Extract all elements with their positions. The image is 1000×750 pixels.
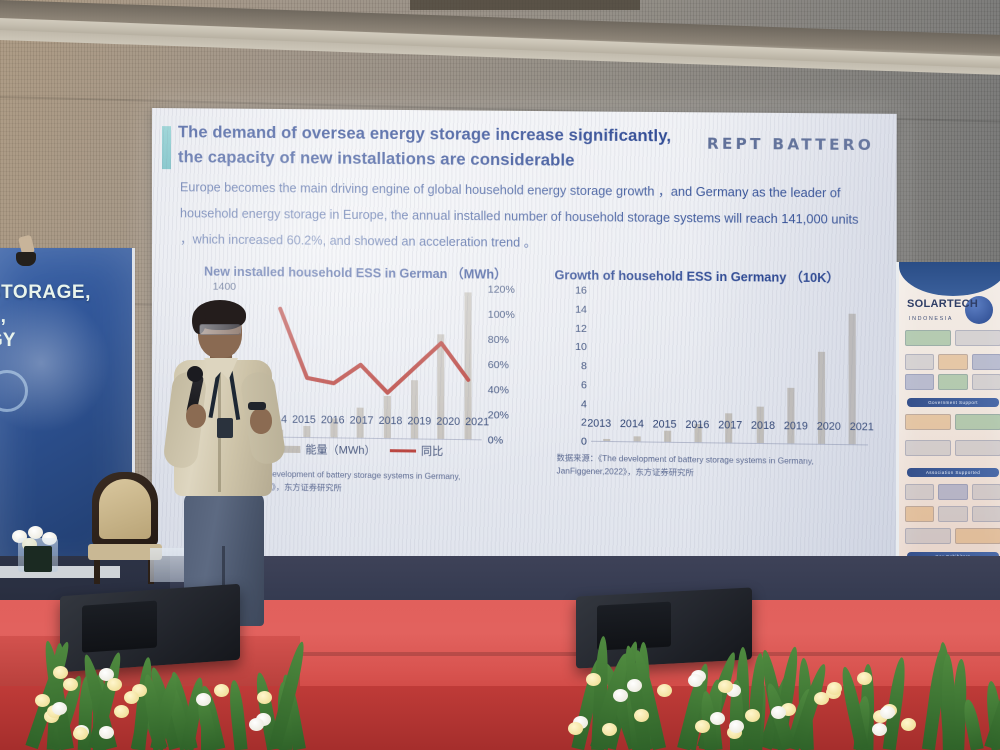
flower-bloom — [63, 678, 78, 691]
sponsor-logo-chip — [905, 354, 934, 370]
axis-tick-label: 2017 — [718, 419, 742, 435]
axis-tick-label: 2015 — [653, 418, 677, 434]
flower-bloom — [688, 674, 703, 687]
flower-bloom — [872, 723, 887, 736]
axis-tick-label: 100% — [488, 309, 515, 321]
lamp-base — [16, 252, 36, 266]
presenter-right-hand — [250, 408, 272, 434]
sponsor-row — [905, 330, 1000, 346]
presenter-glasses — [199, 324, 241, 335]
foreground-flowers-left — [30, 630, 290, 750]
flower-bloom — [99, 726, 114, 739]
flower-bloom — [73, 727, 88, 740]
axis-tick-label: 2018 — [751, 420, 775, 436]
axis-tick-label: 4 — [581, 398, 587, 410]
axis-tick-label: 2019 — [407, 415, 431, 431]
sponsor-row — [905, 414, 1000, 430]
banner-text-line-2: E, — [0, 306, 6, 328]
sponsor-logo-chip — [938, 374, 967, 390]
legend-label-yoy: 同比 — [421, 443, 443, 459]
conference-stage-scene: The demand of oversea energy storage inc… — [0, 0, 1000, 750]
axis-tick-label: 80% — [488, 334, 509, 346]
sponsor-logo-chip — [905, 484, 934, 500]
sponsor-logo-chip — [905, 440, 951, 456]
legend-label-energy: 能量（MWh） — [305, 441, 375, 458]
sponsor-logo-chip — [938, 506, 967, 522]
flower-leaf — [942, 654, 957, 750]
flower-bloom — [771, 706, 786, 719]
sponsor-logo-chip — [955, 330, 1000, 346]
axis-tick-label: 2019 — [784, 420, 808, 436]
sponsor-row — [905, 374, 1000, 390]
sponsor-logo-chip — [955, 414, 1000, 430]
legend-item-energy: 能量（MWh） — [278, 441, 375, 458]
rept-battero-logo: REPT BATTERO — [707, 135, 874, 155]
chair-cushion — [99, 479, 151, 539]
sponsor-logo-chip — [972, 354, 1000, 370]
banner-text-line-1: STORAGE, — [0, 282, 91, 304]
axis-tick-label: 2014 — [620, 418, 644, 434]
flower-bloom — [257, 691, 272, 704]
sponsor-logo-chip — [972, 484, 1000, 500]
chart-right-source: 数据来源：《The development of battery storage… — [557, 451, 862, 481]
flower-bloom — [613, 689, 628, 702]
sponsor-row — [905, 354, 1000, 370]
ceiling-dark-panel — [410, 0, 640, 10]
flower-bloom — [214, 684, 229, 697]
flower-bloom — [857, 672, 872, 685]
presenter-left-hand — [186, 404, 206, 428]
axis-tick-label: 2021 — [465, 416, 489, 432]
sponsor-section-header: Government Support — [907, 398, 999, 407]
flower-bloom — [124, 691, 139, 704]
axis-tick-label: 1400 — [213, 281, 236, 293]
axis-tick-label: 16 — [575, 285, 587, 297]
axis-tick-label: 2013 — [587, 418, 611, 434]
flower-bloom — [196, 693, 211, 706]
banner-light-glare — [0, 288, 116, 438]
sponsor-row — [905, 440, 1000, 456]
flower-bloom — [710, 712, 725, 725]
flower-leaf — [882, 656, 908, 750]
microphone-head-icon — [187, 366, 203, 382]
flower-bloom — [657, 684, 672, 697]
axis-tick-label: 60% — [488, 359, 509, 371]
solartech-subtitle: INDONESIA — [909, 316, 953, 322]
foreground-flowers-right — [560, 630, 1000, 750]
legend-item-yoy: 同比 — [390, 442, 443, 459]
slide-title-line-2: the capacity of new installations are co… — [178, 145, 723, 175]
legend-line-swatch — [390, 449, 416, 452]
presenter-wristwatch — [248, 402, 266, 410]
sponsor-logo-chip — [955, 528, 1000, 544]
axis-tick-label: 6 — [581, 379, 587, 391]
sponsor-section-header: Association Supported — [907, 468, 999, 477]
sponsor-row — [905, 484, 1000, 500]
axis-tick-label: 2016 — [685, 419, 709, 435]
axis-tick-label: 2021 — [850, 421, 874, 437]
flower-bloom — [249, 718, 264, 731]
sponsor-logo-chip — [905, 374, 934, 390]
sponsor-logo-chip — [905, 528, 951, 544]
axis-tick-label: 2018 — [379, 415, 403, 431]
presenter-badge — [217, 418, 233, 438]
chart-growth-household-ess: Growth of household ESS in Germany （10K）… — [546, 264, 882, 541]
sponsor-row — [905, 528, 1000, 544]
sponsor-section-label: Government Support — [907, 398, 999, 407]
sponsor-banner-header — [899, 262, 1000, 296]
axis-tick-label: 12 — [575, 322, 587, 334]
axis-tick-label: 0 — [581, 436, 587, 448]
title-accent-bar — [162, 126, 171, 169]
sponsor-row — [905, 506, 1000, 522]
flower-bloom — [627, 679, 642, 692]
banner-text-line-3: GY — [0, 330, 15, 352]
axis-tick-label: 10 — [575, 341, 587, 353]
axis-tick-label: 2017 — [350, 415, 374, 431]
flower-bloom — [602, 723, 617, 736]
axis-tick-label: 2016 — [321, 414, 345, 430]
chair-leg — [94, 560, 100, 584]
axis-tick-label: 2015 — [292, 414, 316, 430]
slide-title: The demand of oversea energy storage inc… — [178, 120, 723, 175]
axis-tick-label: 8 — [581, 360, 587, 372]
flower-bloom — [107, 678, 122, 691]
sponsor-logo-chip — [938, 484, 967, 500]
sponsor-section-label: Association Supported — [907, 468, 999, 477]
sponsor-logo-chip — [955, 440, 1000, 456]
chart-right-title: Growth of household ESS in Germany （10K） — [555, 264, 840, 286]
sponsor-logo-chip — [972, 506, 1000, 522]
presenter — [168, 296, 286, 626]
axis-tick-label: 14 — [575, 303, 587, 315]
sponsor-logo-chip — [905, 414, 951, 430]
axis-tick-label: 120% — [488, 284, 515, 296]
axis-tick-label: 40% — [488, 384, 509, 396]
flower-bloom — [53, 666, 68, 679]
axis-tick-label: 2020 — [817, 420, 841, 436]
chart-left-title: New installed household ESS in German （M… — [204, 261, 507, 283]
flower-bloom — [114, 705, 129, 718]
sponsor-logo-chip — [905, 330, 951, 346]
flower-leaf — [227, 680, 247, 750]
stage-lamp-left — [14, 236, 40, 266]
axis-tick-label: 2020 — [436, 416, 460, 432]
sponsor-logo-chip — [938, 354, 967, 370]
slide-body-paragraph: Europe becomes the main driving engine o… — [180, 174, 866, 259]
flower-bloom — [901, 718, 916, 731]
vase-inner — [24, 546, 52, 572]
sponsor-logo-chip — [972, 374, 1000, 390]
sponsor-logo-chip — [905, 506, 934, 522]
